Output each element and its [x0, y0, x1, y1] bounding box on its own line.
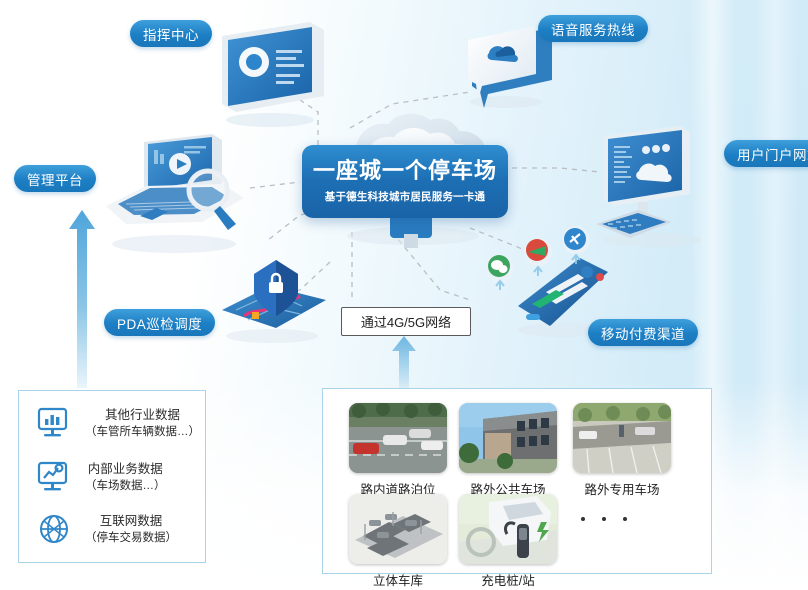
- label-mobile-payment[interactable]: 移动付费渠道: [588, 319, 698, 346]
- ellipsis-dot: [623, 517, 627, 521]
- scenario-item-1[interactable]: 路外公共车场: [459, 403, 557, 498]
- scenario-item-0[interactable]: 路内道路泊位: [349, 403, 447, 498]
- management-platform-laptop-icon: [94, 132, 254, 258]
- ellipsis-dot: [581, 517, 585, 521]
- ellipsis-dot: [602, 517, 606, 521]
- multi-level-garage-photo: [349, 494, 447, 564]
- parking-scenarios-panel: 路内道路泊位: [322, 388, 712, 574]
- scenario-caption: 立体车库: [349, 570, 447, 589]
- network-box: 通过4G/5G网络: [341, 307, 471, 336]
- scenario-item-3[interactable]: 立体车库: [349, 494, 447, 589]
- data-source-row-1[interactable]: 内部业务数据 （车场数据…）: [33, 457, 166, 497]
- scenario-item-2[interactable]: 路外专用车场: [573, 403, 671, 498]
- scenario-caption: 充电桩/站: [459, 570, 557, 589]
- data-flow-up-arrow-icon: [68, 210, 96, 388]
- on-street-parking-photo: [349, 403, 447, 473]
- infographic-canvas: 一座城一个停车场 基于德生科技城市居民服务一卡通 指挥中心 语音服务热线 管理平…: [0, 0, 808, 590]
- off-street-private-lot-photo: [573, 403, 671, 473]
- data-source-detail: （车管所车辆数据…）: [85, 424, 200, 441]
- data-source-row-2[interactable]: 互联网数据 （停车交易数据）: [33, 509, 177, 549]
- hero-card: 一座城一个停车场 基于德生科技城市居民服务一卡通: [302, 145, 508, 218]
- data-sources-panel: 其他行业数据 （车管所车辆数据…） 内部业务数据 （车场数据…）: [18, 390, 206, 563]
- globe-network-icon: [33, 509, 75, 549]
- data-source-row-0[interactable]: 其他行业数据 （车管所车辆数据…）: [33, 403, 200, 443]
- data-source-title: 其他行业数据: [105, 406, 180, 424]
- monitor-line-chart-icon: [33, 457, 75, 497]
- ev-charging-station-photo: [459, 494, 557, 564]
- data-source-title: 互联网数据: [100, 512, 163, 530]
- label-management-platform[interactable]: 管理平台: [14, 165, 96, 192]
- label-user-portal[interactable]: 用户门户网站: [724, 140, 808, 167]
- hero-title: 一座城一个停车场: [313, 159, 497, 183]
- app-icon-wechat: [486, 254, 514, 282]
- user-portal-desktop-icon: [594, 124, 718, 248]
- app-icon-alipay: [524, 238, 552, 266]
- scenario-caption: 路外专用车场: [573, 479, 671, 498]
- more-scenarios-ellipsis: [581, 517, 627, 521]
- label-voice-hotline[interactable]: 语音服务热线: [538, 15, 648, 42]
- data-source-detail: （车场数据…）: [85, 478, 166, 495]
- data-source-detail: （停车交易数据）: [85, 530, 177, 547]
- app-icon-unionpay: [562, 226, 590, 254]
- command-center-display-icon: [212, 20, 332, 130]
- label-command-center[interactable]: 指挥中心: [130, 20, 212, 47]
- monitor-bar-chart-icon: [33, 403, 75, 443]
- pda-security-map-icon: [214, 252, 334, 344]
- hero-subtitle: 基于德生科技城市居民服务一卡通: [325, 189, 486, 204]
- off-street-public-lot-photo: [459, 403, 557, 473]
- scenario-item-4[interactable]: 充电桩/站: [459, 494, 557, 589]
- label-pda-dispatch[interactable]: PDA巡检调度: [104, 309, 215, 336]
- data-source-title: 内部业务数据: [88, 460, 163, 478]
